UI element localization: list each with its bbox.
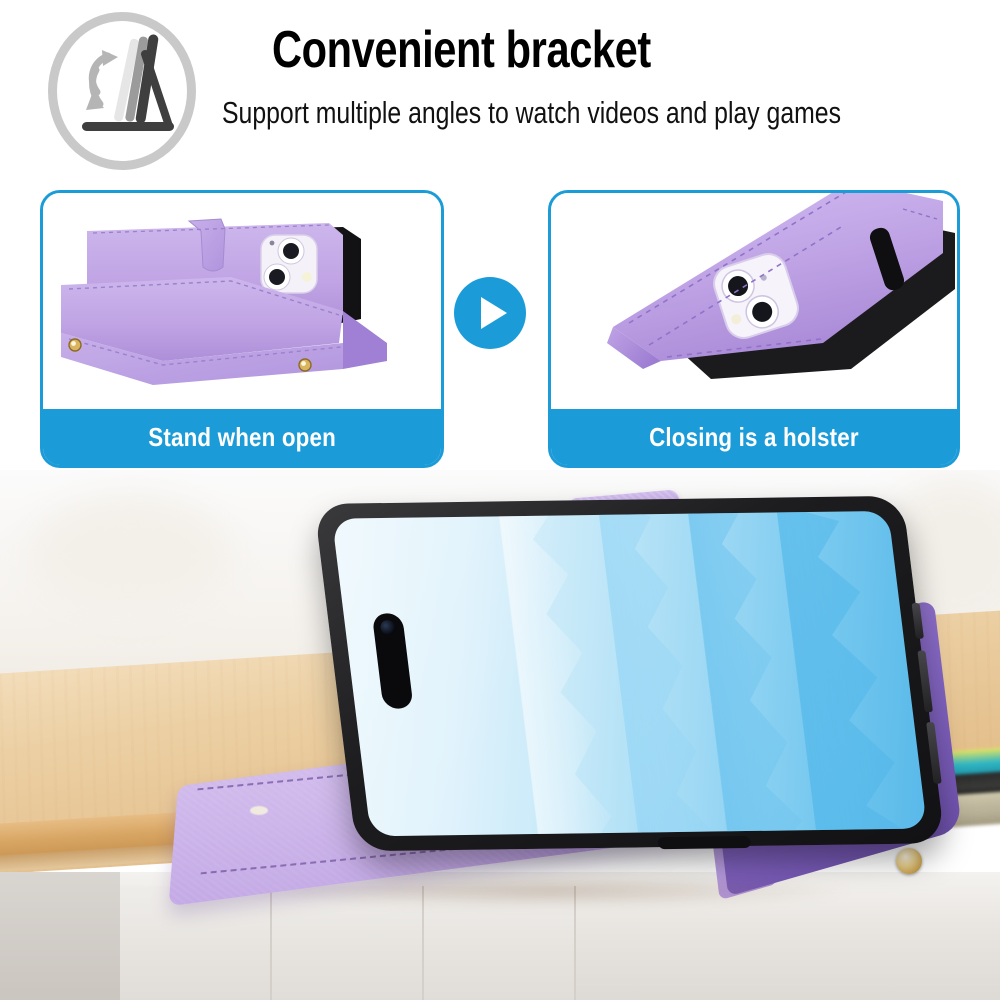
phone-screen [332,511,927,836]
phone [314,496,945,852]
case-closed-holster-icon [551,193,957,412]
page-subtitle: Support multiple angles to watch videos … [222,96,878,130]
header: Convenient bracket Support multiple angl… [0,0,1000,180]
adjustable-stand-icon [48,12,196,170]
panel-caption-text: Stand when open [148,422,336,453]
hero-product-photo [0,470,1000,1000]
panel-caption-bar: Closing is a holster [551,409,957,465]
gold-rivet [896,848,922,874]
stand-glyph [66,30,178,152]
play-triangle [481,297,507,329]
case-closed-photo [551,193,957,412]
wallet-case [90,470,950,1000]
feature-panel-closing-is-a-holster[interactable]: Closing is a holster [548,190,960,468]
play-arrow-icon[interactable] [454,277,526,349]
case-stand-photo [43,193,441,412]
table-speck [250,806,268,815]
screen-glare [332,511,927,836]
charging-port [657,836,751,849]
front-camera-icon [380,620,397,635]
case-stand-open-icon [43,193,441,412]
panel-caption-bar: Stand when open [43,409,441,465]
panel-caption-text: Closing is a holster [649,422,859,453]
product-feature-image: Convenient bracket Support multiple angl… [0,0,1000,1000]
page-title: Convenient bracket [272,22,800,78]
feature-panel-stand-when-open[interactable]: Stand when open [40,190,444,468]
